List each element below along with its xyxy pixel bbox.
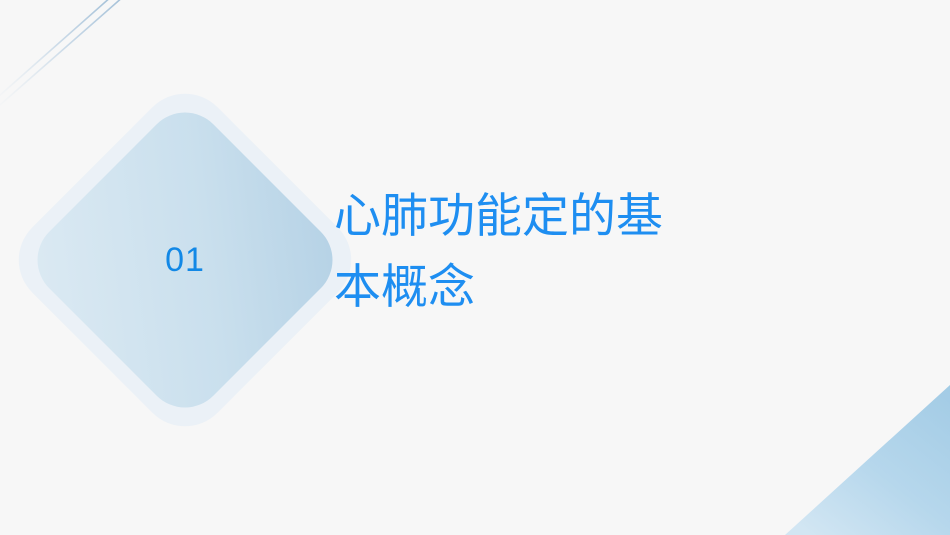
- corner-triangle-decoration: [785, 385, 950, 535]
- diagonal-line-outer: [0, 0, 124, 112]
- diagonal-line-inner: [0, 0, 112, 104]
- page-title: 心肺功能定的基 本概念: [334, 180, 724, 323]
- section-number-label: 01: [95, 230, 275, 290]
- triangle-shape: [785, 385, 950, 535]
- slide-canvas: 01 心肺功能定的基 本概念: [0, 0, 950, 535]
